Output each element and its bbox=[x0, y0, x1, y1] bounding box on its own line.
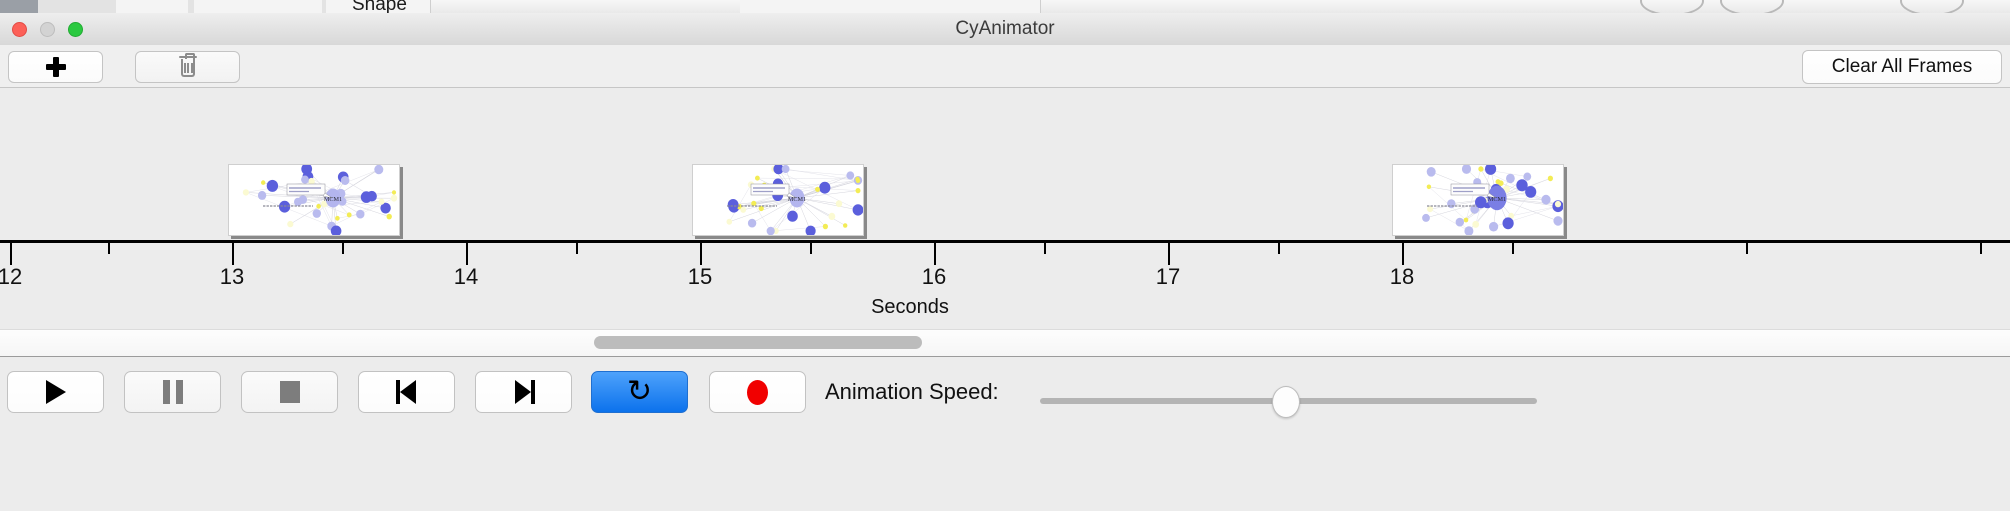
timeline-panel[interactable]: 12131415161718 MCM1MCM1MCM1 Seconds bbox=[0, 88, 2010, 328]
trash-icon bbox=[179, 56, 197, 78]
axis-tick-minor bbox=[1980, 243, 1982, 254]
background-window-label: Shape bbox=[352, 0, 407, 14]
frame-toolbar: Clear All Frames bbox=[0, 45, 2010, 88]
axis-tick-minor bbox=[342, 243, 344, 254]
timeline-axis-line bbox=[0, 240, 2010, 243]
skip-forward-icon bbox=[513, 380, 535, 404]
axis-tick-label: 17 bbox=[1156, 264, 1180, 290]
plus-icon bbox=[46, 57, 66, 77]
axis-tick-label: 14 bbox=[454, 264, 478, 290]
axis-tick-major bbox=[466, 243, 468, 265]
svg-text:MCM1: MCM1 bbox=[788, 196, 806, 203]
axis-tick-major bbox=[1168, 243, 1170, 265]
svg-text:MCM1: MCM1 bbox=[324, 196, 342, 203]
loop-button[interactable]: ↻ bbox=[591, 371, 688, 413]
axis-tick-label: 12 bbox=[0, 264, 22, 290]
skip-to-end-button[interactable] bbox=[475, 371, 572, 413]
clear-all-frames-button[interactable]: Clear All Frames bbox=[1802, 50, 2002, 84]
timeline-scrollbar[interactable] bbox=[0, 329, 2010, 357]
title-bar[interactable]: CyAnimator bbox=[0, 13, 2010, 46]
loop-icon: ↻ bbox=[627, 377, 652, 407]
frame-thumbnail[interactable]: MCM1 bbox=[228, 164, 400, 236]
record-icon bbox=[747, 380, 768, 405]
skip-to-start-button[interactable] bbox=[358, 371, 455, 413]
network-graph-preview: MCM1 bbox=[229, 165, 399, 235]
axis-tick-minor bbox=[1746, 243, 1748, 254]
network-graph-preview: MCM1 bbox=[1393, 165, 1563, 235]
stop-icon bbox=[280, 381, 300, 403]
stop-button[interactable] bbox=[241, 371, 338, 413]
axis-tick-minor bbox=[1278, 243, 1280, 254]
svg-text:MCM1: MCM1 bbox=[1488, 196, 1506, 203]
axis-tick-minor bbox=[1044, 243, 1046, 254]
axis-tick-major bbox=[10, 243, 12, 265]
play-icon bbox=[46, 380, 66, 404]
axis-tick-label: 16 bbox=[922, 264, 946, 290]
animation-speed-label: Animation Speed: bbox=[825, 379, 999, 405]
frame-thumbnail[interactable]: MCM1 bbox=[692, 164, 864, 236]
axis-tick-label: 13 bbox=[220, 264, 244, 290]
delete-frame-button[interactable] bbox=[135, 51, 240, 83]
background-window-strip: Shape bbox=[0, 0, 2010, 14]
axis-tick-minor bbox=[576, 243, 578, 254]
axis-tick-minor bbox=[108, 243, 110, 254]
pause-icon bbox=[163, 380, 183, 404]
axis-tick-major bbox=[700, 243, 702, 265]
axis-title: Seconds bbox=[0, 296, 2010, 319]
axis-tick-major bbox=[934, 243, 936, 265]
record-button[interactable] bbox=[709, 371, 806, 413]
axis-tick-minor bbox=[1512, 243, 1514, 254]
frame-thumbnail[interactable]: MCM1 bbox=[1392, 164, 1564, 236]
axis-tick-major bbox=[232, 243, 234, 265]
axis-tick-label: 18 bbox=[1390, 264, 1414, 290]
network-graph-preview: MCM1 bbox=[693, 165, 863, 235]
add-frame-button[interactable] bbox=[8, 51, 103, 83]
timeline-scrollbar-thumb[interactable] bbox=[594, 336, 922, 349]
skip-back-icon bbox=[396, 380, 418, 404]
axis-tick-label: 15 bbox=[688, 264, 712, 290]
axis-tick-minor bbox=[810, 243, 812, 254]
play-button[interactable] bbox=[7, 371, 104, 413]
pause-button[interactable] bbox=[124, 371, 221, 413]
axis-title-text: Seconds bbox=[871, 296, 949, 318]
window-title: CyAnimator bbox=[0, 13, 2010, 45]
axis-tick-major bbox=[1402, 243, 1404, 265]
animation-speed-slider-thumb[interactable] bbox=[1272, 386, 1300, 418]
transport-bar: ↻ Animation Speed: bbox=[0, 356, 2010, 511]
cyanimator-window: Shape CyAnimator Clear All Frames 121314… bbox=[0, 0, 2010, 510]
